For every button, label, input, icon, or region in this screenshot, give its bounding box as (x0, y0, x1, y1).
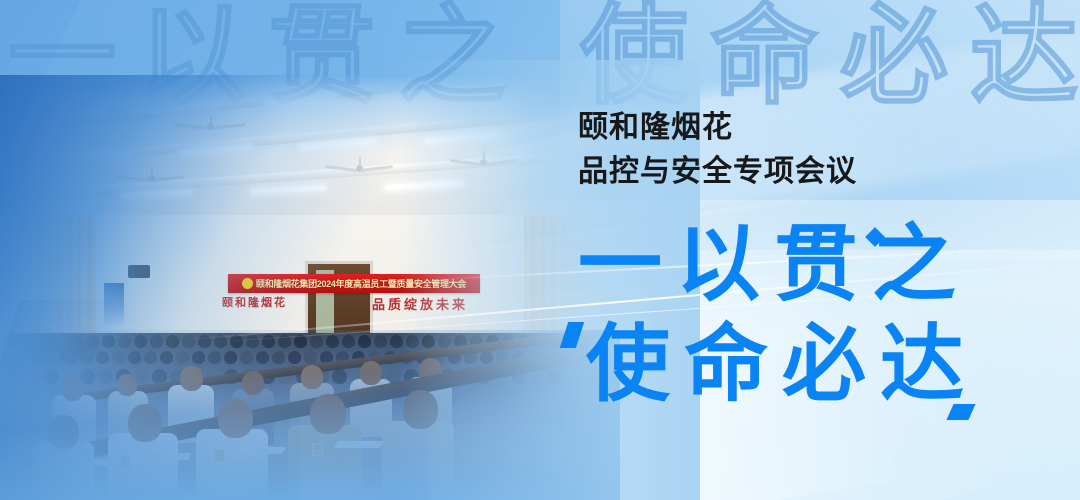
attendee-front (32, 441, 94, 500)
photo-curtain-left (0, 215, 96, 350)
photo-ceiling (0, 75, 620, 225)
wall-text-left: 颐和隆烟花 (222, 294, 287, 310)
subtitle-line-1: 颐和隆烟花 (578, 102, 733, 146)
conference-red-banner: 颐和隆烟花集团2024年度高温员工暨质量安全管理大会 (228, 274, 480, 293)
company-logo-icon (242, 278, 253, 289)
headline-line-2: 使命必达 (586, 322, 978, 406)
headline-line-1: 一以贯之 (578, 222, 970, 306)
wall-poster (104, 283, 124, 325)
attendee-front (288, 425, 362, 500)
wall-speaker (128, 265, 150, 278)
photo-audience (0, 333, 620, 500)
notebook (236, 447, 286, 454)
promo-banner: 一以贯之 使命必达 (0, 0, 1080, 500)
tea-glass (312, 443, 323, 456)
photo-room: 颐和隆烟花集团2024年度高温员工暨质量安全管理大会 颐和隆烟花 品质绽放未来 (0, 75, 620, 500)
attendee-front (108, 433, 178, 500)
wall-text-right: 品质绽放未来 (372, 294, 468, 313)
subtitle-line-2: 品控与安全专项会议 (578, 146, 857, 190)
tea-glass (120, 455, 131, 468)
tea-glass (214, 449, 225, 462)
attendee-front (196, 429, 268, 500)
attendee-front (382, 421, 454, 500)
notebook (70, 459, 114, 466)
notebook (144, 453, 192, 460)
conference-photo: 颐和隆烟花集团2024年度高温员工暨质量安全管理大会 颐和隆烟花 品质绽放未来 (0, 75, 620, 500)
notebook (334, 441, 384, 448)
